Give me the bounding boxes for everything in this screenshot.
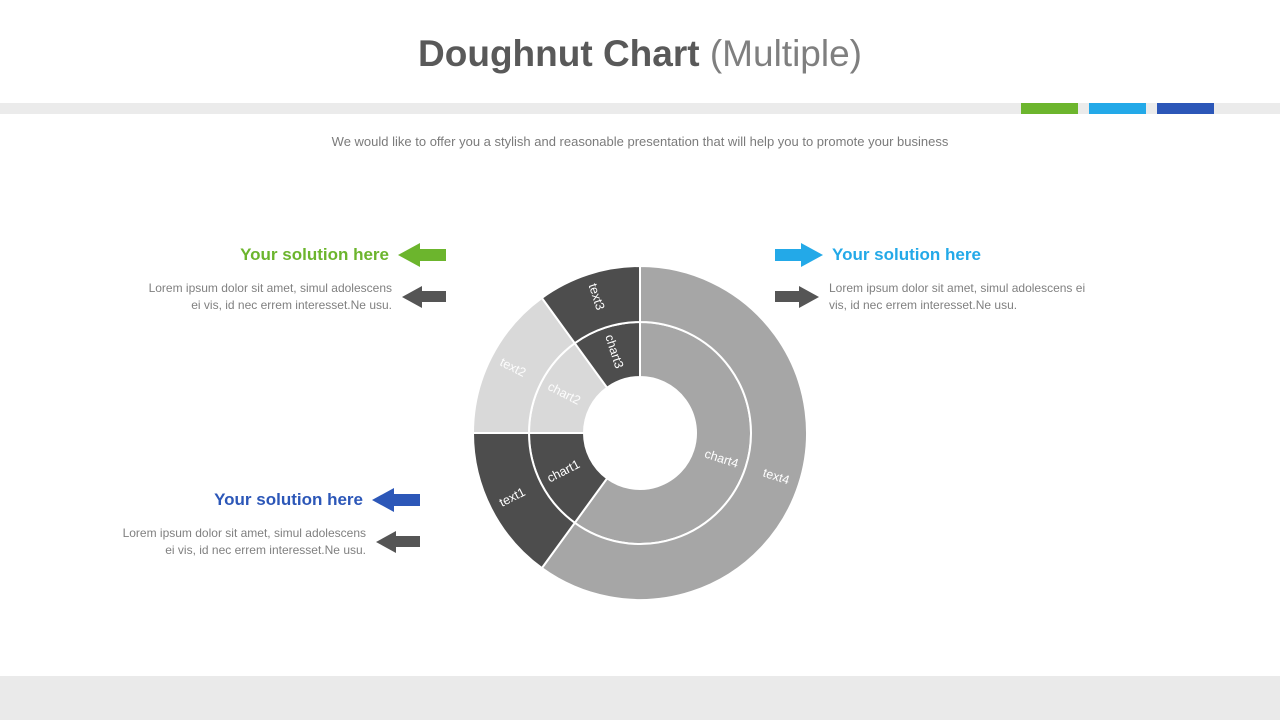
chart-slices [473, 266, 807, 600]
callout-heading: Your solution here [832, 244, 981, 266]
callout-heading: Your solution here [214, 489, 363, 511]
callout-body-row: Lorem ipsum dolor sit amet, simul adoles… [146, 280, 446, 314]
accent-bar-green [1021, 103, 1078, 114]
callout-bottom-left: Your solution here Lorem ipsum dolor sit… [120, 488, 420, 559]
page-title-bold: Doughnut Chart [418, 33, 700, 74]
arrow-left-icon-green [398, 243, 446, 267]
page-subtitle: We would like to offer you a stylish and… [0, 132, 1280, 151]
accent-bar-dark-blue [1157, 103, 1214, 114]
slide-canvas: Doughnut Chart (Multiple) We would like … [0, 0, 1280, 720]
accent-bar-blue [1089, 103, 1146, 114]
callout-body-row: Lorem ipsum dolor sit amet, simul adoles… [775, 280, 1105, 314]
callout-top-left: Your solution here Lorem ipsum dolor sit… [146, 243, 446, 314]
page-title: Doughnut Chart (Multiple) [0, 28, 1280, 80]
arrow-left-icon-gray [402, 286, 446, 308]
footer-band [0, 676, 1280, 720]
callout-body: Lorem ipsum dolor sit amet, simul adoles… [146, 280, 392, 314]
callout-top-right: Your solution here Lorem ipsum dolor sit… [775, 243, 1105, 314]
doughnut-chart: chart4chart1chart2chart3text4text1text2t… [472, 265, 808, 601]
header-divider-band [0, 103, 1280, 114]
callout-body-row: Lorem ipsum dolor sit amet, simul adoles… [120, 525, 420, 559]
callout-body: Lorem ipsum dolor sit amet, simul adoles… [120, 525, 366, 559]
page-title-light: (Multiple) [710, 33, 862, 74]
callout-heading: Your solution here [240, 244, 389, 266]
callout-heading-row: Your solution here [120, 488, 420, 512]
arrow-left-icon-dark-blue [372, 488, 420, 512]
callout-heading-row: Your solution here [775, 243, 1105, 267]
arrow-left-icon-gray [376, 531, 420, 553]
callout-heading-row: Your solution here [146, 243, 446, 267]
doughnut-chart-svg: chart4chart1chart2chart3text4text1text2t… [472, 265, 808, 601]
arrow-right-icon-gray [775, 286, 819, 308]
callout-body: Lorem ipsum dolor sit amet, simul adoles… [829, 280, 1105, 314]
arrow-right-icon-blue [775, 243, 823, 267]
